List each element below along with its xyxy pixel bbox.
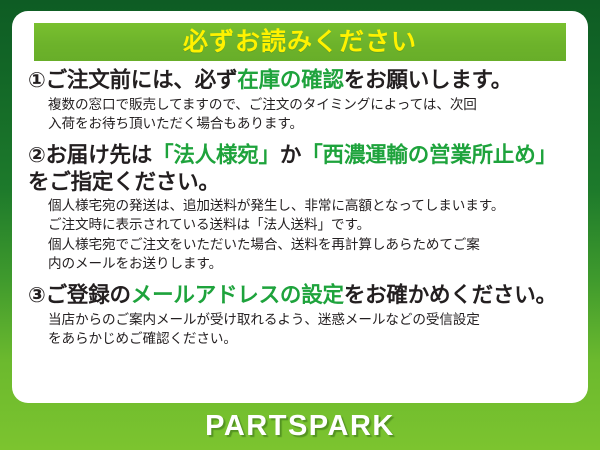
- title-banner: 必ずお読みください: [34, 23, 566, 61]
- page-title: 必ずお読みください: [183, 30, 417, 55]
- notice-item-3: ③ご登録のメールアドレスの設定をお確かめください。 当店からのご案内メールが受け…: [28, 282, 572, 348]
- notice-item-2-head-middle: か: [280, 143, 301, 167]
- notice-item-2-head-before: お届け先は: [46, 143, 153, 167]
- notice-item-1-number: ①: [28, 69, 46, 92]
- notice-item-1-body-line-2: 入荷をお待ち頂いただく場合もあります。: [48, 114, 572, 133]
- notice-item-3-number: ③: [28, 284, 46, 307]
- notice-item-1-body-line-1: 複数の窓口で販売してますので、ご注文のタイミングによっては、次回: [48, 95, 572, 114]
- notice-item-2-number: ②: [28, 144, 46, 167]
- notice-item-1: ①ご注文前には、必ず在庫の確認をお願いします。 複数の窓口で販売してますので、ご…: [28, 67, 572, 133]
- notice-item-3-body-line-1: 当店からのご案内メールが受け取れるよう、迷惑メールなどの受信設定: [48, 310, 572, 329]
- notice-item-2-head-highlight: 「法人様宛」: [152, 143, 280, 167]
- notice-item-2: ②お届け先は「法人様宛」か「西濃運輸の営業所止め」をご指定ください。 個人様宅宛…: [28, 142, 572, 273]
- notice-item-2-body: 個人様宅宛の発送は、追加送料が発生し、非常に高額となってしまいます。 ご注文時に…: [28, 196, 572, 273]
- brand-logo-text: PARTSPARK: [205, 410, 395, 443]
- notice-item-1-body: 複数の窓口で販売してますので、ご注文のタイミングによっては、次回 入荷をお待ち頂…: [28, 95, 572, 134]
- notice-item-1-head-highlight: 在庫の確認: [237, 68, 344, 92]
- notice-item-2-body-line-1: 個人様宅宛の発送は、追加送料が発生し、非常に高額となってしまいます。: [48, 196, 572, 215]
- notice-item-1-head-after: をお願いします。: [344, 68, 512, 92]
- notice-item-2-body-line-4: 内のメールをお送りします。: [48, 254, 572, 273]
- notice-item-3-head-after: をお確かめください。: [344, 283, 557, 307]
- notice-item-3-head-before: ご登録の: [46, 283, 131, 307]
- notice-item-2-head-highlight-2: 「西濃運輸の営業所止め」: [301, 143, 557, 167]
- notice-item-2-heading: ②お届け先は「法人様宛」か「西濃運輸の営業所止め」をご指定ください。: [28, 142, 572, 195]
- notice-item-2-body-line-3: 個人様宅宛でご注文をいただいた場合、送料を再計算しあらためてご案: [48, 235, 572, 254]
- notice-items-list: ①ご注文前には、必ず在庫の確認をお願いします。 複数の窓口で販売してますので、ご…: [26, 67, 574, 348]
- notice-item-1-head-before: ご注文前には、必ず: [46, 68, 238, 92]
- notice-item-3-body: 当店からのご案内メールが受け取れるよう、迷惑メールなどの受信設定 をあらかじめご…: [28, 310, 572, 349]
- notice-item-1-heading: ①ご注文前には、必ず在庫の確認をお願いします。: [28, 67, 572, 94]
- notice-item-3-heading: ③ご登録のメールアドレスの設定をお確かめください。: [28, 282, 572, 309]
- notice-item-3-body-line-2: をあらかじめご確認ください。: [48, 329, 572, 348]
- notice-item-2-body-line-2: ご注文時に表示されている送料は「法人送料」です。: [48, 215, 572, 234]
- notice-poster: 必ずお読みください ①ご注文前には、必ず在庫の確認をお願いします。 複数の窓口で…: [0, 0, 600, 450]
- notice-item-3-head-highlight: メールアドレスの設定: [131, 283, 344, 307]
- footer-brand-bar: PARTSPARK: [0, 403, 600, 450]
- notice-item-2-head-after: をご指定ください。: [28, 170, 220, 194]
- notice-card: 必ずお読みください ①ご注文前には、必ず在庫の確認をお願いします。 複数の窓口で…: [12, 11, 588, 403]
